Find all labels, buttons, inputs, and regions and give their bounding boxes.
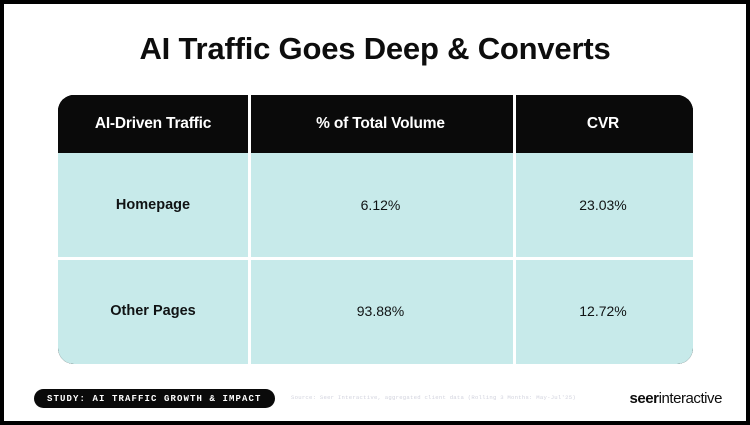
table-header-cvr: CVR <box>513 95 693 153</box>
brand-logo-regular: interactive <box>659 390 722 407</box>
table-cell-cvr-homepage: 23.03% <box>513 153 693 257</box>
table-row: Homepage <box>58 153 248 257</box>
column-divider-2 <box>513 95 516 364</box>
brand-logo-bold: seer <box>630 390 659 407</box>
table-header-traffic: AI-Driven Traffic <box>58 95 248 153</box>
table-cell-cvr-other-pages: 12.72% <box>513 257 693 364</box>
table-grid: AI-Driven Traffic % of Total Volume CVR … <box>58 95 693 364</box>
data-table: AI-Driven Traffic % of Total Volume CVR … <box>58 95 693 364</box>
slide-canvas: AI Traffic Goes Deep & Converts AI-Drive… <box>4 4 746 421</box>
table-cell-volume-homepage: 6.12% <box>248 153 513 257</box>
source-note: Source: Seer Interactive, aggregated cli… <box>291 394 576 401</box>
table-row: Other Pages <box>58 257 248 364</box>
brand-logo: seerinteractive <box>630 390 723 407</box>
table-header-volume: % of Total Volume <box>248 95 513 153</box>
row-divider <box>58 257 693 260</box>
column-divider-1 <box>248 95 251 364</box>
table-cell-volume-other-pages: 93.88% <box>248 257 513 364</box>
page-title: AI Traffic Goes Deep & Converts <box>4 31 746 67</box>
status-badge: STUDY: AI TRAFFIC GROWTH & IMPACT <box>34 389 275 408</box>
